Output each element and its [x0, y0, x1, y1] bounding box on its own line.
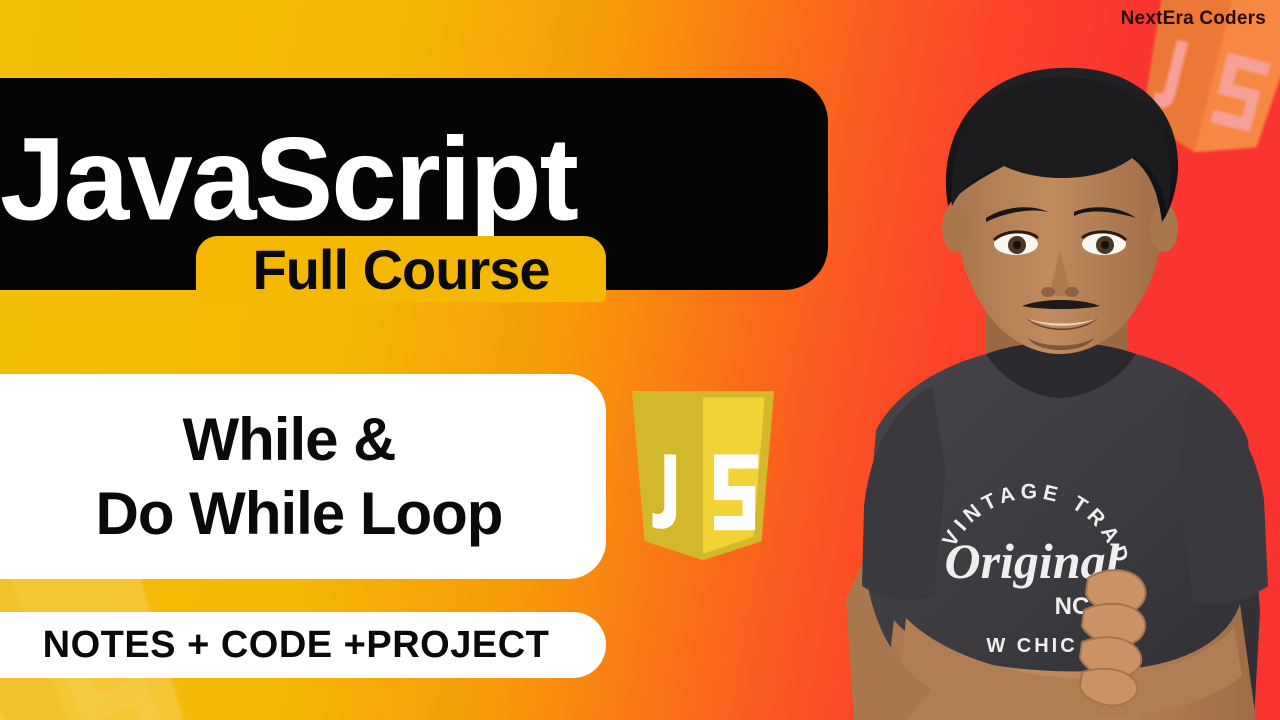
svg-text:Original: Original — [944, 533, 1119, 589]
subtitle-line-1: While & — [183, 405, 396, 475]
presenter-photo: . VINTAGE TRADE MARK Original NC W CHIC — [836, 0, 1280, 720]
page-title: JavaScript — [0, 120, 577, 238]
bonus-pill-label: NOTES + CODE +PROJECT — [43, 624, 550, 667]
full-course-badge-label: Full Course — [252, 242, 549, 298]
subtitle-panel: While & Do While Loop — [0, 374, 606, 579]
svg-text:VINTAGE TRADE MARK: VINTAGE TRADE MARK — [836, 0, 1134, 569]
javascript-logo — [624, 388, 782, 564]
svg-text:W CHIC: W CHIC — [986, 635, 1077, 657]
bonus-pill: NOTES + CODE +PROJECT — [0, 612, 606, 678]
full-course-badge: Full Course — [196, 236, 606, 302]
channel-watermark: NextEra Coders — [1121, 8, 1266, 30]
subtitle-line-2: Do While Loop — [96, 479, 503, 549]
thumbnail-canvas: . VINTAGE TRADE MARK Original NC W CHIC — [0, 0, 1280, 720]
javascript-logo-decoration-behind-person — [830, 546, 981, 704]
svg-text:NC: NC — [1055, 593, 1090, 620]
